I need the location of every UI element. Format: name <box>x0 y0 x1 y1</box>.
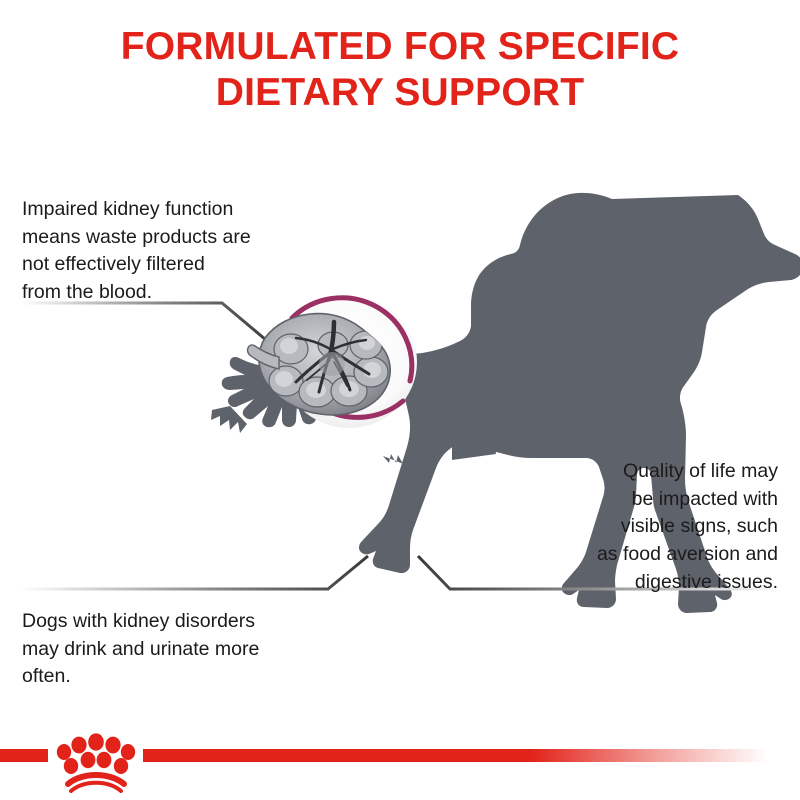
callout-drink-urinate: Dogs with kidney disorders may drink and… <box>22 608 259 691</box>
callout-line: means waste products are <box>22 224 251 252</box>
callout-line: as food aversion and <box>597 541 778 569</box>
crown-arc-lower <box>71 783 121 791</box>
callout-line: from the blood. <box>22 279 251 307</box>
poster-root: FORMULATED FOR SPECIFIC DIETARY SUPPORT <box>0 0 800 800</box>
brand-bar-right <box>143 749 768 762</box>
callout-line: not effectively filtered <box>22 251 251 279</box>
callout-line: visible signs, such <box>597 513 778 541</box>
brand-bar-left <box>0 749 48 762</box>
callout-line: Impaired kidney function <box>22 196 251 224</box>
leader-line-kidney-function <box>20 303 272 345</box>
leader-line-drink-urinate <box>20 556 368 589</box>
callout-line: Dogs with kidney disorders <box>22 608 259 636</box>
callout-line: be impacted with <box>597 486 778 514</box>
callout-line: digestive issues. <box>597 569 778 597</box>
callout-quality-of-life: Quality of life may be impacted with vis… <box>597 458 778 596</box>
footer-brand-bar <box>0 710 800 800</box>
callout-line: may drink and urinate more <box>22 636 259 664</box>
callout-kidney-function: Impaired kidney function means waste pro… <box>22 196 251 307</box>
callout-line: often. <box>22 663 259 691</box>
callout-line: Quality of life may <box>597 458 778 486</box>
royal-canin-crown-logo <box>57 733 135 791</box>
